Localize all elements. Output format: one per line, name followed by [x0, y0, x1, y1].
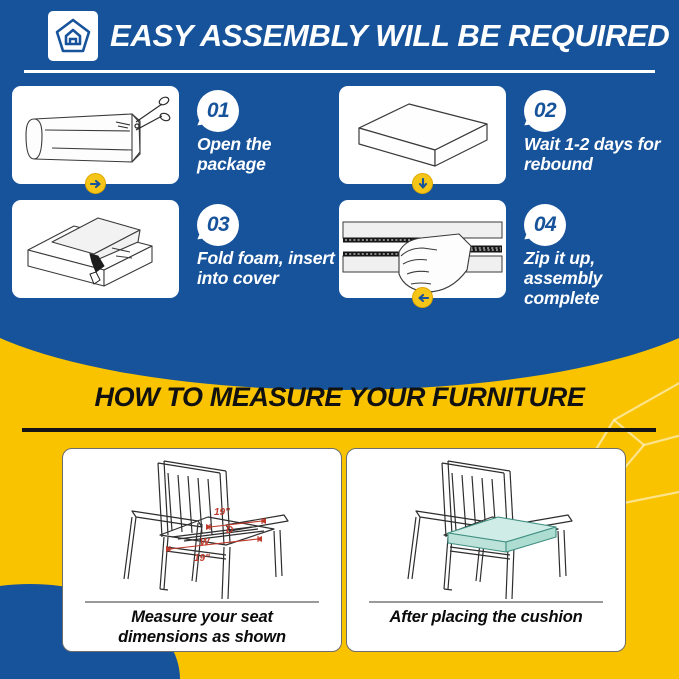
- house-pentagon-logo-icon: [48, 11, 98, 61]
- step-04-label: Zip it up, assembly complete: [524, 248, 669, 308]
- step-01: 01 Open the package: [12, 86, 342, 191]
- depth-value-label: 19": [214, 507, 230, 518]
- step-02-label-line2: rebound: [524, 154, 660, 174]
- step-02-card: [339, 86, 506, 184]
- header-divider: [24, 70, 655, 73]
- assembly-header: EASY ASSEMBLY WILL BE REQUIRED: [0, 0, 679, 80]
- step-01-label-line2: package: [197, 154, 271, 174]
- step-02: 02 Wait 1-2 days for rebound: [339, 86, 669, 191]
- caption-line1: Measure your seat: [71, 607, 333, 627]
- step-04-number-badge: 04: [524, 204, 566, 246]
- step-04: 04 Zip it up, assembly complete: [339, 200, 669, 305]
- arrow-left-icon: [412, 287, 433, 308]
- step-04-label-line2: complete: [524, 288, 669, 308]
- step-02-label: Wait 1-2 days for rebound: [524, 134, 660, 174]
- measure-panel-dimensions: 19" D W 19" Measure your seat dimensions…: [62, 448, 342, 652]
- step-02-number-badge: 02: [524, 90, 566, 132]
- page-title: EASY ASSEMBLY WILL BE REQUIRED: [110, 13, 660, 59]
- step-03-label: Fold foam, insert into cover: [197, 248, 335, 288]
- measure-section-title: HOW TO MEASURE YOUR FURNITURE: [0, 382, 679, 413]
- caption-line1: After placing the cushion: [355, 607, 617, 627]
- step-03: 03 Fold foam, insert into cover: [12, 200, 342, 305]
- rolled-package-with-scissors-icon: [12, 86, 179, 184]
- step-03-label-line2: into cover: [197, 268, 335, 288]
- chair-with-cushion-icon: [347, 451, 625, 599]
- width-value-label: 19": [194, 553, 210, 564]
- step-03-card: [12, 200, 179, 298]
- step-01-number-badge: 01: [197, 90, 239, 132]
- step-04-label-line1: Zip it up, assembly: [524, 248, 669, 288]
- infographic-page: EASY ASSEMBLY WILL BE REQUIRED: [0, 0, 679, 679]
- step-04-card: [339, 200, 506, 298]
- step-02-label-line1: Wait 1-2 days for: [524, 134, 660, 154]
- step-03-label-line1: Fold foam, insert: [197, 248, 335, 268]
- step-01-label-line1: Open the: [197, 134, 271, 154]
- measure-panel-caption: Measure your seat dimensions as shown: [71, 607, 333, 647]
- foam-slab-icon: [339, 86, 506, 184]
- step-01-card: [12, 86, 179, 184]
- panel-caption-divider: [85, 601, 319, 603]
- step-03-number-badge: 03: [197, 204, 239, 246]
- hand-zipping-cover-icon: [339, 200, 506, 298]
- step-01-label: Open the package: [197, 134, 271, 174]
- arrow-right-icon: [85, 173, 106, 194]
- chair-with-dimensions-icon: 19" D W 19": [63, 451, 341, 599]
- foam-insert-into-cover-icon: [12, 200, 179, 298]
- width-letter-label: W: [200, 537, 211, 548]
- panel-caption-divider: [369, 601, 603, 603]
- caption-line2: dimensions as shown: [71, 627, 333, 647]
- measure-panel-cushion: After placing the cushion: [346, 448, 626, 652]
- depth-letter-label: D: [226, 525, 233, 536]
- measure-panel-caption: After placing the cushion: [355, 607, 617, 627]
- assembly-section: EASY ASSEMBLY WILL BE REQUIRED: [0, 0, 679, 390]
- arrow-down-icon: [412, 173, 433, 194]
- measure-divider: [22, 428, 656, 432]
